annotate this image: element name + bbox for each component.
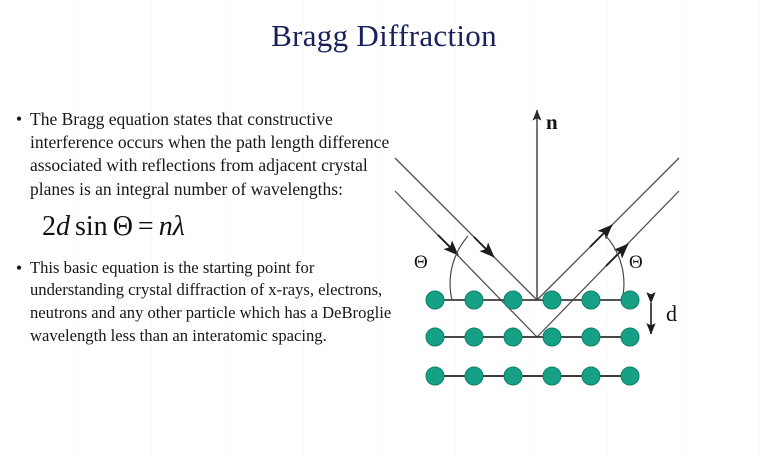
atom xyxy=(426,328,444,346)
atom xyxy=(543,291,561,309)
equation-n-symbol: n xyxy=(159,211,173,242)
atom xyxy=(504,328,522,346)
bullet-marker-icon: • xyxy=(8,108,30,131)
atom xyxy=(582,328,600,346)
list-item: • The Bragg equation states that constru… xyxy=(8,108,398,201)
incoming-ray-1-arrowhead xyxy=(474,237,494,257)
page-title: Bragg Diffraction xyxy=(0,18,768,54)
atom xyxy=(465,328,483,346)
bullet-text-bragg-equation-application: This basic equation is the starting poin… xyxy=(30,257,398,347)
outgoing-ray-2-arrowhead xyxy=(606,244,628,266)
atom xyxy=(582,291,600,309)
diagram-svg xyxy=(390,88,768,408)
angle-arc-left xyxy=(450,236,468,300)
outgoing-ray-1-arrowhead xyxy=(590,225,612,247)
equation-theta-symbol: Θ xyxy=(113,211,133,242)
atom xyxy=(504,367,522,385)
bragg-equation: 2dsinΘ=nλ xyxy=(42,210,398,244)
interplanar-spacing-label: d xyxy=(666,301,677,327)
equation-coefficient: 2 xyxy=(42,211,56,242)
angle-label-left: Θ xyxy=(414,252,428,274)
atom xyxy=(465,367,483,385)
normal-vector-label: n xyxy=(546,110,558,135)
bullet-text-bragg-equation-statement: The Bragg equation states that construct… xyxy=(30,108,398,201)
equation-equals-sign: = xyxy=(138,211,154,242)
slide-canvas: Bragg Diffraction • The Bragg equation s… xyxy=(0,0,768,461)
atom xyxy=(621,291,639,309)
incoming-ray-group xyxy=(395,158,537,337)
list-item: • This basic equation is the starting po… xyxy=(8,257,398,347)
atom xyxy=(465,291,483,309)
outgoing-ray-group xyxy=(537,158,679,337)
equation-lambda-symbol: λ xyxy=(173,211,185,242)
atom xyxy=(543,367,561,385)
atom xyxy=(426,291,444,309)
equation-d-symbol: d xyxy=(56,211,70,242)
equation-sin-operator: sin xyxy=(75,211,108,242)
atom xyxy=(426,367,444,385)
text-content-column: • The Bragg equation states that constru… xyxy=(8,108,398,347)
bragg-diffraction-diagram: n Θ Θ d xyxy=(390,88,768,408)
atom xyxy=(582,367,600,385)
bullet-marker-icon: • xyxy=(8,257,30,280)
atom xyxy=(504,291,522,309)
angle-label-right: Θ xyxy=(629,252,643,274)
incoming-ray-1 xyxy=(395,158,537,300)
atom-group xyxy=(426,291,639,385)
atom xyxy=(621,367,639,385)
angle-arc-right xyxy=(606,236,624,300)
atom xyxy=(543,328,561,346)
atom xyxy=(621,328,639,346)
incoming-ray-2-arrowhead xyxy=(438,235,458,255)
